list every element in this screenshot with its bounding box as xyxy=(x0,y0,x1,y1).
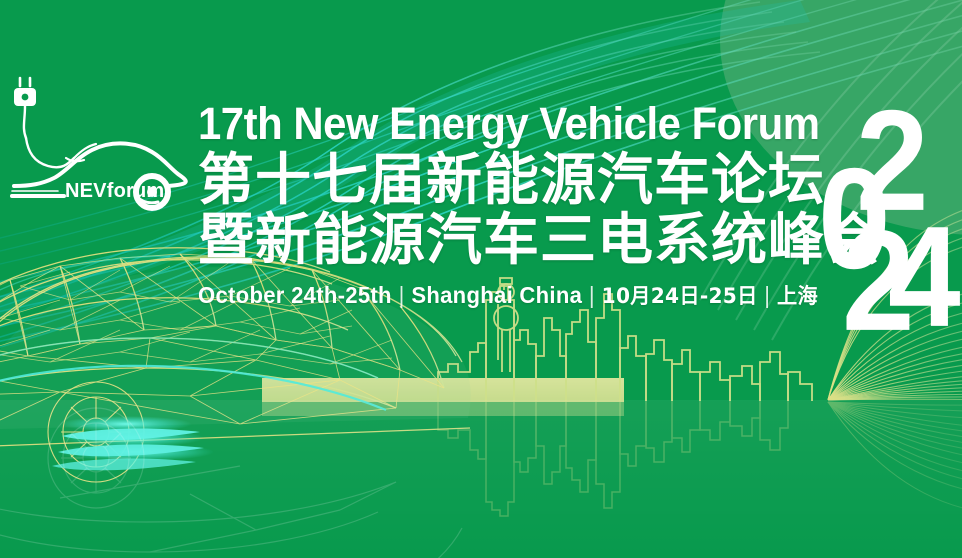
fanned-arc-lines-reflection xyxy=(828,402,962,514)
charging-plug-icon xyxy=(14,78,36,138)
logo-word-nev: NEV xyxy=(65,180,107,202)
date-chinese: 10月24日-25日 xyxy=(602,284,758,308)
city-chinese: 上海 xyxy=(777,284,818,308)
year-2024-graphic: 2024 2 0 2 4 xyxy=(826,100,954,316)
title-english: 17th New Energy Vehicle Forum xyxy=(198,100,803,148)
headline-block: 17th New Energy Vehicle Forum 第十七届新能源汽车论… xyxy=(198,100,848,309)
meta-separator-3: | xyxy=(758,282,777,308)
city-english: Shanghai China xyxy=(411,282,582,308)
logo-wordmark: NEVforum xyxy=(65,180,164,203)
title-chinese-line-1: 第十七届新能源汽车论坛 xyxy=(198,150,848,212)
title-chinese-line-2: 暨新能源汽车三电系统峰会 xyxy=(198,210,848,272)
meta-separator-1: | xyxy=(392,282,411,308)
car-light-streaks xyxy=(52,416,214,470)
event-meta-line: October 24th-25th|Shanghai China|10月24日-… xyxy=(198,282,822,309)
year-digit-4: 4 xyxy=(888,206,954,349)
shanghai-skyline-reflection xyxy=(438,401,788,516)
date-english: October 24th-25th xyxy=(198,282,392,308)
logo-cable xyxy=(26,138,74,167)
logo-word-forum: forum xyxy=(107,180,165,202)
event-banner: NEVforum 17th New Energy Vehicle Forum 第… xyxy=(0,0,962,558)
meta-separator-2: | xyxy=(582,282,601,308)
